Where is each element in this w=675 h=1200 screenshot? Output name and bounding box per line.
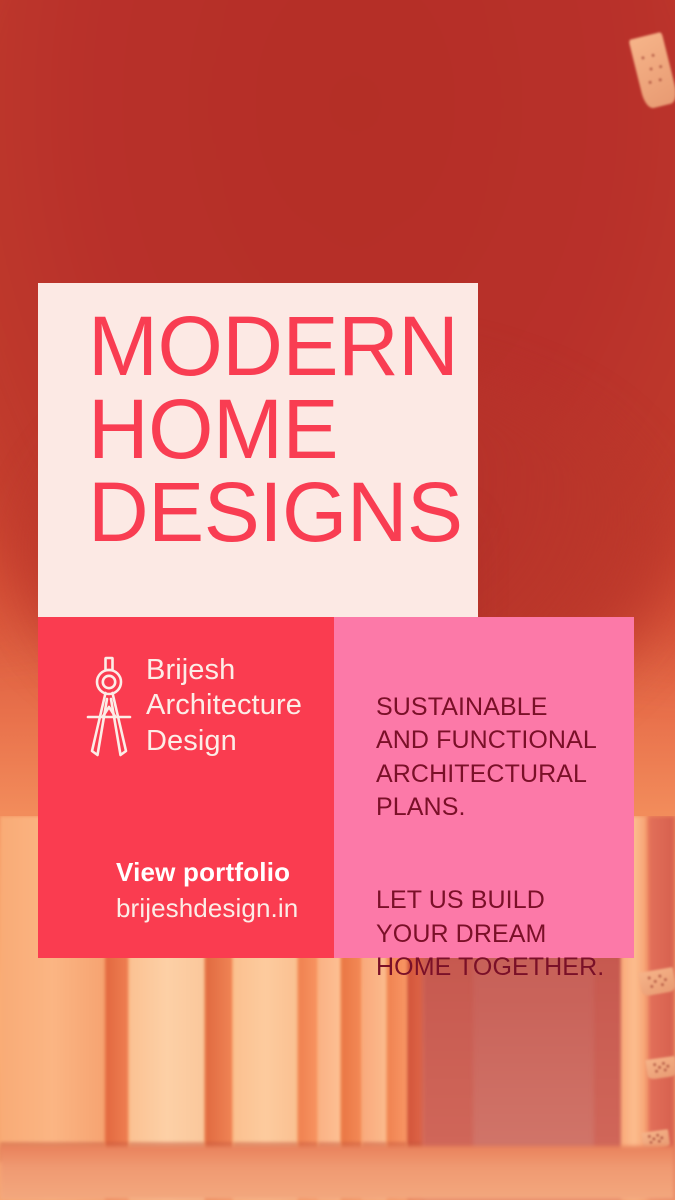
floor: [0, 1146, 675, 1200]
view-portfolio-label[interactable]: View portfolio: [116, 855, 298, 891]
brand-panel: Brijesh Architecture Design View portfol…: [38, 617, 334, 958]
portfolio-url-link[interactable]: brijeshdesign.in: [116, 891, 298, 926]
paragraph-spacer: [376, 825, 622, 851]
cta-block[interactable]: View portfolio brijeshdesign.in: [116, 855, 298, 926]
copy-paragraph-1: SUSTAINABLE AND FUNCTIONAL ARCHITECTURAL…: [376, 693, 597, 822]
copy-text-block: SUSTAINABLE AND FUNCTIONAL ARCHITECTURAL…: [376, 657, 622, 985]
headline-panel: MODERN HOME DESIGNS: [38, 283, 478, 617]
copy-panel: SUSTAINABLE AND FUNCTIONAL ARCHITECTURAL…: [334, 617, 634, 958]
hanging-lamp-icon: [638, 967, 675, 997]
copy-paragraph-2: LET US BUILD YOUR DREAM HOME TOGETHER.: [376, 886, 604, 981]
brand-lockup: Brijesh Architecture Design: [86, 653, 302, 759]
poster-canvas: MODERN HOME DESIGNS Brijesh Architecture…: [0, 0, 675, 1200]
page-title: MODERN HOME DESIGNS: [88, 305, 470, 554]
drafting-compass-icon: [86, 655, 132, 759]
hanging-lamp-icon: [645, 1056, 675, 1080]
brand-name: Brijesh Architecture Design: [146, 653, 302, 759]
